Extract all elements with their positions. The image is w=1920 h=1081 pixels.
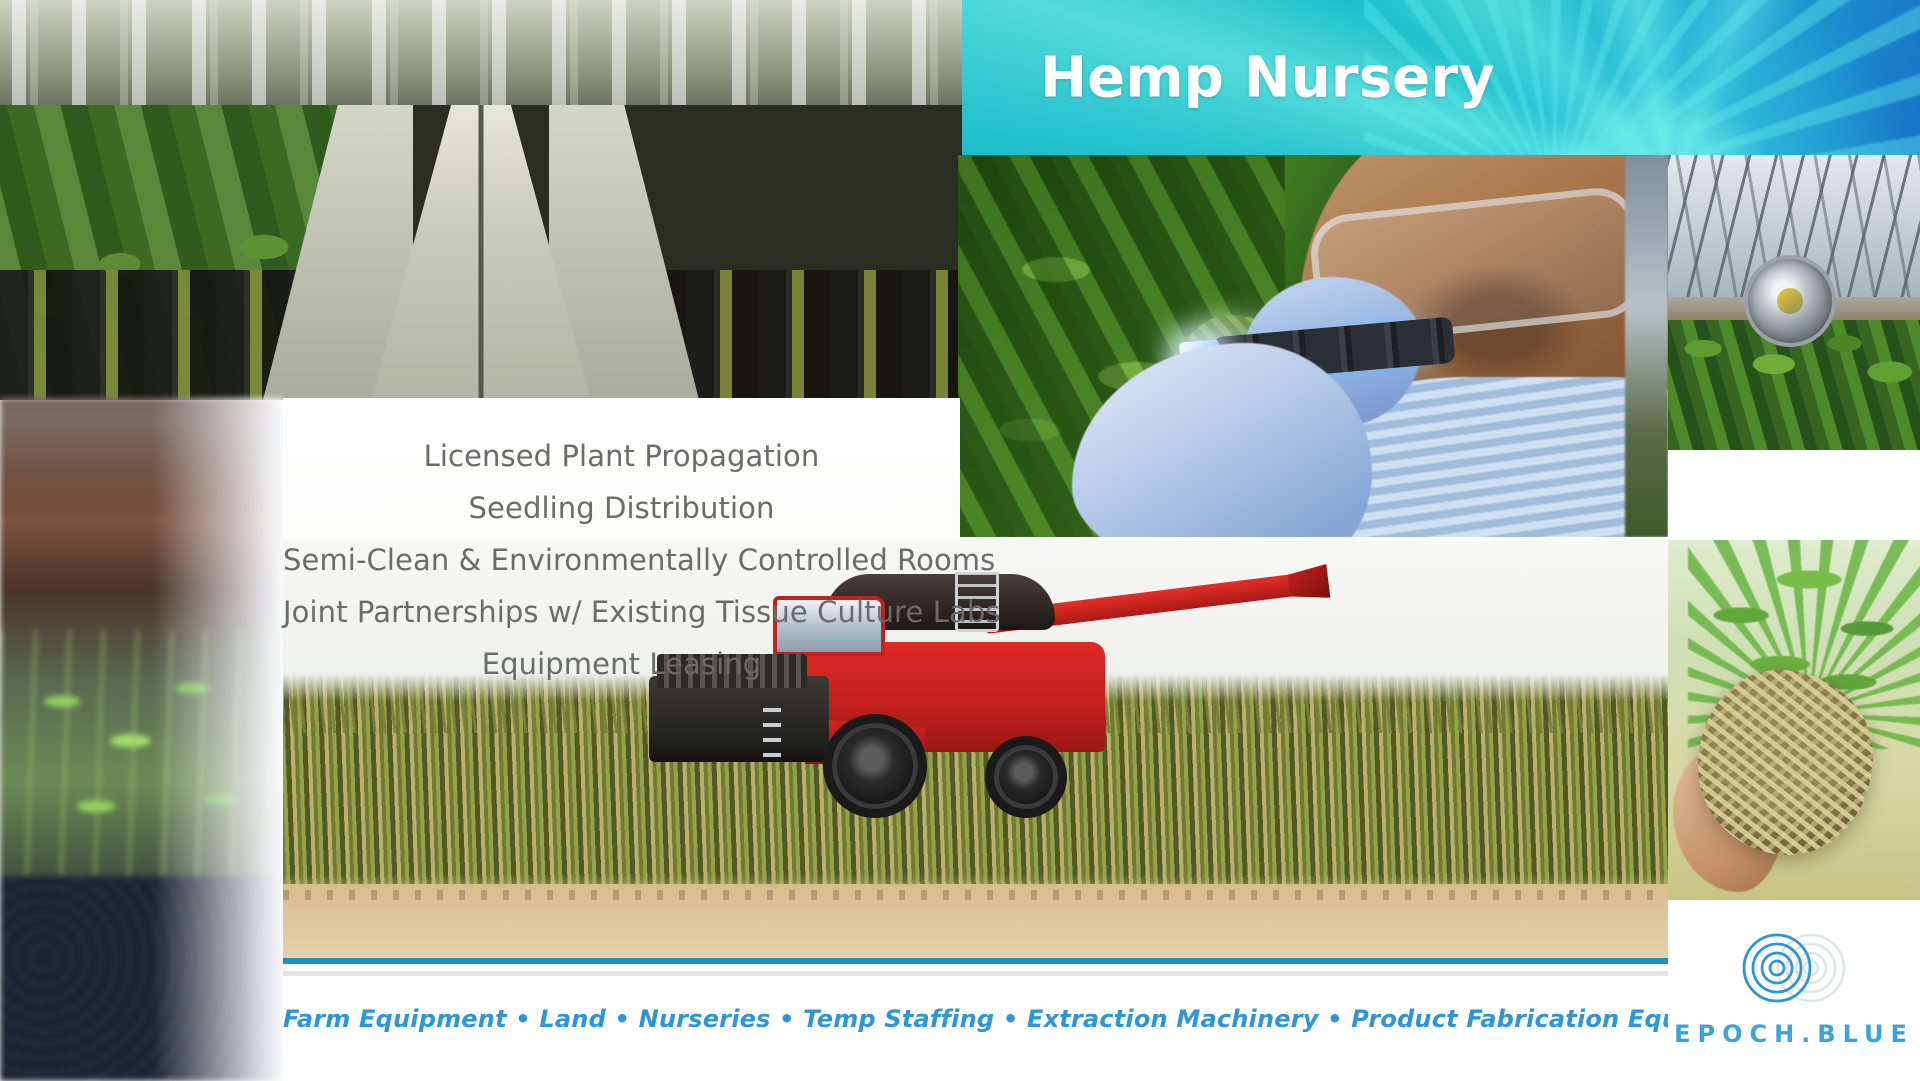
slide-canvas: Hemp Nursery (0, 0, 1920, 1081)
field-stubble (283, 884, 1668, 960)
service-item-1: Seedling Distribution (283, 482, 960, 534)
greenhouse-fan-photo (1668, 155, 1920, 450)
brand-logo[interactable]: EPOCH.BLUE (1668, 900, 1920, 1081)
secondary-divider (283, 971, 1668, 976)
root-ball (1698, 670, 1873, 855)
service-item-4: Equipment Leasing (283, 638, 960, 690)
root-ball-photo (1668, 540, 1920, 900)
footer-tagline: Farm Equipment • Land • Nurseries • Temp… (283, 1005, 1668, 1033)
services-list: Licensed Plant Propagation Seedling Dist… (283, 430, 960, 690)
concentric-rings-icon (1719, 922, 1869, 1014)
grow-room-photo (0, 0, 962, 400)
logo-wordmark: EPOCH.BLUE (1668, 1020, 1920, 1048)
grow-room-lighting (0, 0, 962, 105)
seedling-tray-photo (0, 398, 283, 1081)
harvester-front-wheel (823, 714, 927, 818)
harvester-steps (763, 708, 781, 768)
circulation-fan (1744, 255, 1836, 347)
header-banner: Hemp Nursery (962, 0, 1920, 155)
accent-divider (283, 958, 1668, 964)
page-title: Hemp Nursery (1040, 45, 1495, 110)
footer-tagline-text: Farm Equipment • Land • Nurseries • Temp… (283, 1005, 1776, 1033)
microscope-inspection-photo (958, 155, 1668, 537)
harvester-rear-wheel (985, 736, 1067, 818)
service-item-0: Licensed Plant Propagation (283, 430, 960, 482)
seedling-fade-overlay (153, 398, 283, 1081)
service-item-3: Joint Partnerships w/ Existing Tissue Cu… (283, 586, 960, 638)
microscope-background-strip (1625, 155, 1668, 537)
service-item-2: Semi-Clean & Environmentally Controlled … (283, 534, 960, 586)
